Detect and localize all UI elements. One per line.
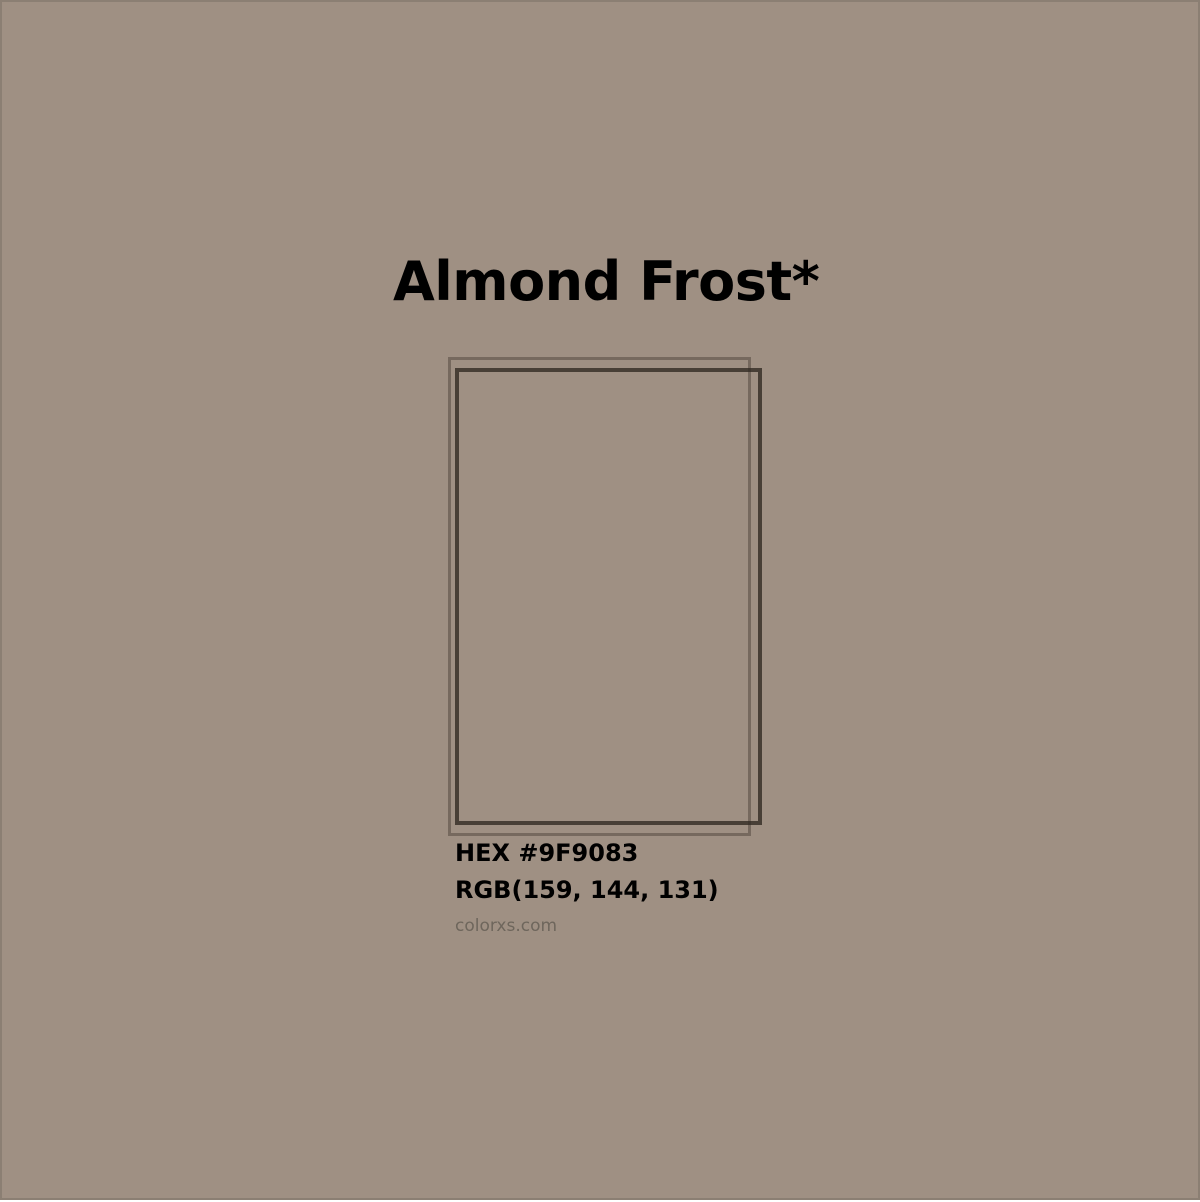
site-watermark: colorxs.com [455, 909, 1055, 937]
hex-value-label: HEX #9F9083 [455, 835, 1055, 872]
swatch-outline-front [455, 368, 762, 825]
page-title: Almond Frost* [393, 247, 1093, 317]
swatch-frame-group [2, 2, 1200, 1202]
color-value-block: HEX #9F9083 RGB(159, 144, 131) colorxs.c… [455, 835, 1055, 937]
color-swatch-page: Almond Frost* HEX #9F9083 RGB(159, 144, … [0, 0, 1200, 1200]
swatch-outline-back [448, 357, 751, 836]
rgb-value-label: RGB(159, 144, 131) [455, 872, 1055, 909]
